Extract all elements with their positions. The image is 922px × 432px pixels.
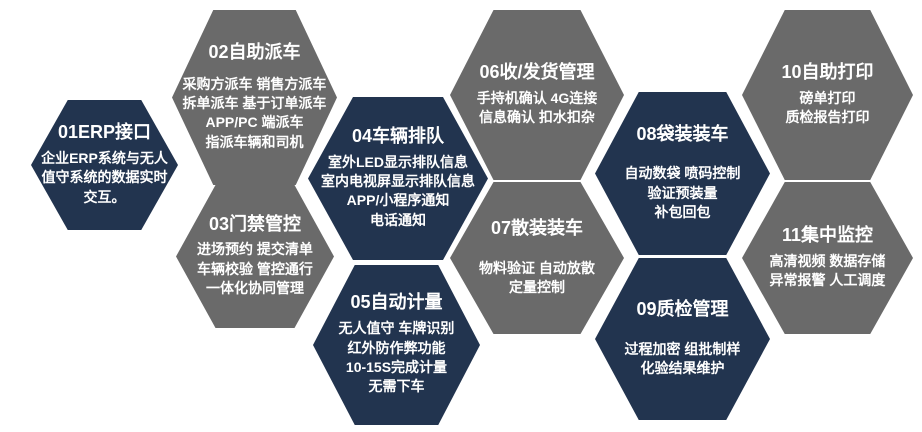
hex-title-08: 08袋装装车 [636,125,728,145]
hex-title-03: 03门禁管控 [209,215,301,235]
hex-body-line: 信息确认 扣水扣杂 [477,108,598,127]
hex-body-line: 车辆校验 管控通行 [197,260,313,279]
hex-body-line: 一体化协同管理 [197,279,313,298]
hex-title-09: 09质检管理 [636,300,728,320]
hex-body-03: 进场预约 提交清单 车辆校验 管控通行 一体化协同管理 [197,240,313,298]
hex-title-10: 10自助打印 [781,63,873,83]
hex-body-line: 10-15S完成计量 [339,358,455,377]
hex-body-line: 补包回包 [625,203,741,222]
hex-body-line: APP/小程序通知 [321,191,475,210]
hex-body-line: 磅单打印 [786,89,870,108]
hex-body-line: 定量控制 [479,278,595,297]
hex-body-line: 室外LED显示排队信息 [321,153,475,172]
hex-node-07[interactable]: 07散装装车 物料验证 自动放散 定量控制 [450,182,624,334]
hex-body-04: 室外LED显示排队信息 室内电视屏显示排队信息 APP/小程序通知 电话通知 [321,153,475,230]
hex-node-01[interactable]: 01ERP接口 企业ERP系统与无人 值守系统的数据实时 交互。 [31,100,178,230]
hex-body-line: 红外防作弊功能 [339,339,455,358]
hex-body-line: 采购方派车 销售方派车 [183,75,327,94]
hex-node-04[interactable]: 04车辆排队 室外LED显示排队信息 室内电视屏显示排队信息 APP/小程序通知… [308,97,488,260]
hex-body-line: 室内电视屏显示排队信息 [321,172,475,191]
hex-body-line: 高清视频 数据存储 [770,252,886,271]
hex-body-line: 无需下车 [339,377,455,396]
hex-node-02[interactable]: 02自助派车 采购方派车 销售方派车 拆单派车 基于订单派车 APP/PC 端派… [172,10,337,185]
hex-title-11: 11集中监控 [782,226,873,246]
hex-title-07: 07散装装车 [491,219,583,239]
hex-body-line: 过程加密 组批制样 [625,340,741,359]
hex-title-04: 04车辆排队 [352,127,444,147]
hex-body-line: 电话通知 [321,211,475,230]
hex-body-line: 进场预约 提交清单 [197,240,313,259]
hex-body-09: 过程加密 组批制样 化验结果维护 [625,340,741,379]
hex-body-line: 物料验证 自动放散 [479,259,595,278]
hex-node-05[interactable]: 05自动计量 无人值守 车牌识别 红外防作弊功能 10-15S完成计量 无需下车 [313,265,480,425]
hex-node-06[interactable]: 06收/发货管理 手持机确认 4G连接 信息确认 扣水扣杂 [450,10,624,180]
hex-title-01: 01ERP接口 [58,123,151,143]
hex-node-03[interactable]: 03门禁管控 进场预约 提交清单 车辆校验 管控通行 一体化协同管理 [176,185,334,328]
hex-body-01: 企业ERP系统与无人 值守系统的数据实时 交互。 [41,149,168,207]
hex-body-line: 手持机确认 4G连接 [477,89,598,108]
hex-body-11: 高清视频 数据存储 异常报警 人工调度 [770,252,886,291]
hex-body-07: 物料验证 自动放散 定量控制 [479,259,595,298]
hex-title-02: 02自助派车 [208,43,300,63]
hex-body-line: 无人值守 车牌识别 [339,319,455,338]
hex-body-line: 企业ERP系统与无人 [41,149,168,168]
hex-body-line: 值守系统的数据实时 [41,168,168,187]
hex-title-05: 05自动计量 [350,293,442,313]
hex-body-10: 磅单打印 质检报告打印 [786,89,870,128]
hex-body-line: APP/PC 端派车 [183,113,327,132]
hex-body-line: 异常报警 人工调度 [770,271,886,290]
hex-body-line: 指派车辆和司机 [183,133,327,152]
hex-body-line: 自动数袋 喷码控制 [625,164,741,183]
hex-node-10[interactable]: 10自助打印 磅单打印 质检报告打印 [742,10,913,180]
hex-body-line: 化验结果维护 [625,359,741,378]
hex-body-06: 手持机确认 4G连接 信息确认 扣水扣杂 [477,89,598,128]
hex-body-line: 质检报告打印 [786,108,870,127]
hexagon-diagram-canvas: 01ERP接口 企业ERP系统与无人 值守系统的数据实时 交互。 02自助派车 … [0,0,922,432]
hex-body-line: 交互。 [41,188,168,207]
hex-body-line: 验证预装量 [625,184,741,203]
hex-node-09[interactable]: 09质检管理 过程加密 组批制样 化验结果维护 [595,258,770,420]
hex-node-08[interactable]: 08袋装装车 自动数袋 喷码控制 验证预装量 补包回包 [595,92,770,255]
hex-body-02: 采购方派车 销售方派车 拆单派车 基于订单派车 APP/PC 端派车 指派车辆和… [183,75,327,152]
hex-title-06: 06收/发货管理 [479,63,594,83]
hex-body-08: 自动数袋 喷码控制 验证预装量 补包回包 [625,164,741,222]
hex-body-05: 无人值守 车牌识别 红外防作弊功能 10-15S完成计量 无需下车 [339,319,455,396]
hex-node-11[interactable]: 11集中监控 高清视频 数据存储 异常报警 人工调度 [742,182,913,334]
hex-body-line: 拆单派车 基于订单派车 [183,94,327,113]
